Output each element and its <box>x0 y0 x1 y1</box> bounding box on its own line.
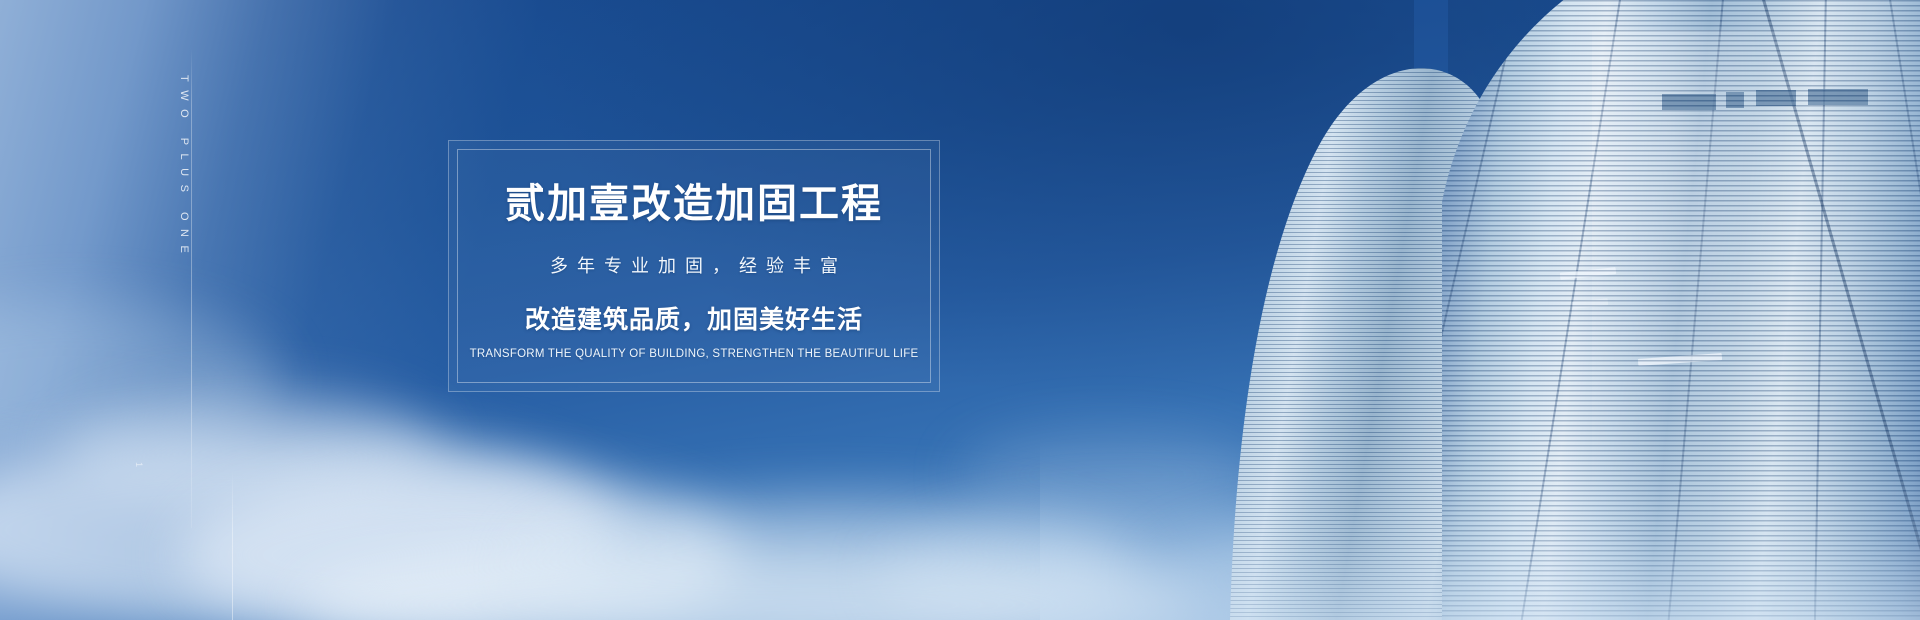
brand-mark: 1 <box>134 462 144 469</box>
facade-band <box>1572 298 1609 309</box>
hero-text-panel-inner: 贰加壹改造加固工程 多年专业加固，经验丰富 改造建筑品质，加固美好生活 TRAN… <box>457 149 931 383</box>
brand-vertical-label: TWO PLUS ONE <box>178 75 190 261</box>
hero-banner: TWO PLUS ONE 1 贰加壹改造加固工程 多年专业加固，经验丰富 改造建… <box>0 0 1920 620</box>
hero-tagline: 改造建筑品质，加固美好生活 <box>525 300 863 336</box>
atmospheric-haze <box>1040 440 1920 620</box>
brand-divider-line-lower <box>232 470 233 620</box>
facade-vent <box>1808 89 1868 105</box>
facade-band <box>1638 353 1722 366</box>
hero-text-panel: 贰加壹改造加固工程 多年专业加固，经验丰富 改造建筑品质，加固美好生活 TRAN… <box>448 140 940 392</box>
skyscrapers-group <box>1040 0 1920 620</box>
hero-subtitle: 多年专业加固，经验丰富 <box>541 252 847 278</box>
facade-vent <box>1756 90 1796 106</box>
hero-english-tagline: TRANSFORM THE QUALITY OF BUILDING, STREN… <box>470 348 919 360</box>
facade-band <box>1560 267 1616 280</box>
brand-divider-line <box>191 48 192 528</box>
facade-vent <box>1726 92 1744 108</box>
facade-vent <box>1662 94 1716 110</box>
hero-title: 贰加壹改造加固工程 <box>505 182 883 226</box>
